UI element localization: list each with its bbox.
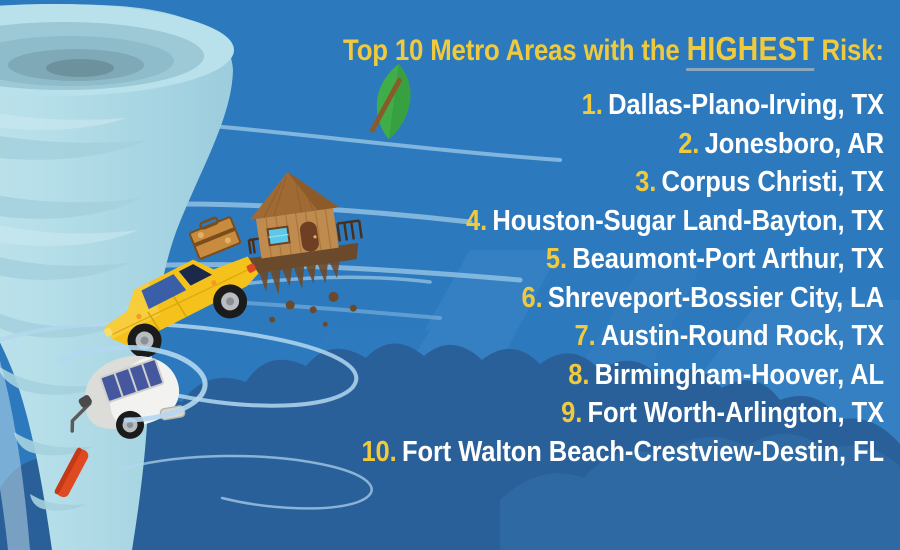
tornado-illustration: [0, 0, 900, 550]
infographic-canvas: Top 10 Metro Areas with the HIGHEST Risk…: [0, 0, 900, 550]
